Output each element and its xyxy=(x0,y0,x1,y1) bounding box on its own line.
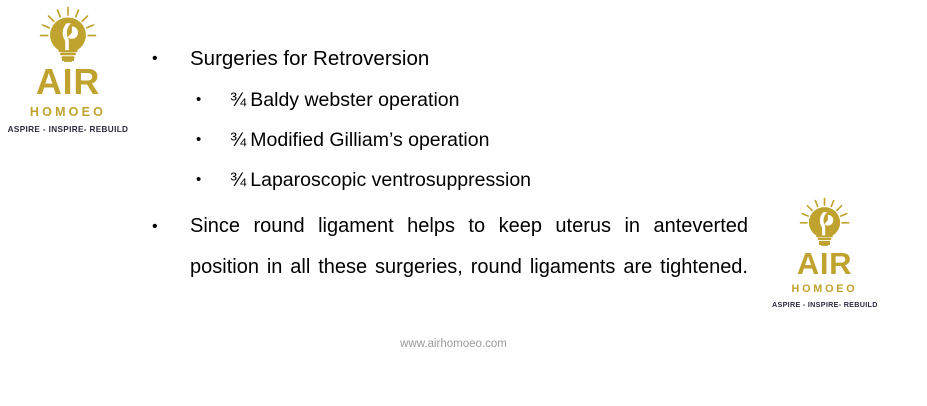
footer-website-url[interactable]: www.airhomoeo.com xyxy=(0,338,907,350)
logo-wordmark: AIR xyxy=(772,248,877,279)
logo-letter-i: I xyxy=(820,248,829,279)
slide-body: • Surgeries for Retroversion • ¾Baldy we… xyxy=(152,40,748,329)
logo-subtitle: HOMOEO xyxy=(772,284,877,295)
fraction-marker: ¾ xyxy=(230,120,246,160)
list-item: • Surgeries for Retroversion xyxy=(152,40,748,78)
logo-letter-i: I xyxy=(63,64,74,100)
logo-letter-a: A xyxy=(36,61,63,102)
fraction-marker: ¾ xyxy=(230,80,246,120)
presentation-slide: AIR HOMOEO ASPIRE - INSPIRE- REBUILD • S… xyxy=(0,0,927,406)
list-item-paragraph: • Since round ligament helps to keep ute… xyxy=(152,206,748,329)
list-item-label: Modified Gilliam’s operation xyxy=(250,129,489,151)
list-item-label: Surgeries for Retroversion xyxy=(190,40,429,78)
bullet-icon: • xyxy=(196,80,230,120)
logo-air-homoeo-primary: AIR HOMOEO ASPIRE - INSPIRE- REBUILD xyxy=(7,6,129,134)
list-item-label: Baldy webster operation xyxy=(250,89,459,111)
logo-wordmark: AIR xyxy=(7,64,129,100)
logo-air-homoeo-secondary: AIR HOMOEO ASPIRE - INSPIRE- REBUILD xyxy=(772,197,877,308)
bullet-icon: • xyxy=(196,160,230,200)
logo-letter-a: A xyxy=(797,246,820,281)
bullet-icon: • xyxy=(152,206,190,247)
lightbulb-icon xyxy=(772,197,877,246)
logo-letter-r: R xyxy=(73,61,100,102)
bullet-icon: • xyxy=(196,120,230,160)
bullet-icon: • xyxy=(152,40,190,78)
list-item: • ¾Modified Gilliam’s operation xyxy=(196,120,748,160)
lightbulb-icon xyxy=(7,6,129,62)
logo-tagline: ASPIRE - INSPIRE- REBUILD xyxy=(772,301,877,308)
fraction-marker: ¾ xyxy=(230,160,246,200)
paragraph-text: Since round ligament helps to keep uteru… xyxy=(190,206,748,329)
logo-tagline: ASPIRE - INSPIRE- REBUILD xyxy=(7,126,129,134)
list-item: • ¾Laparoscopic ventrosuppression xyxy=(196,160,748,200)
list-item: • ¾Baldy webster operation xyxy=(196,80,748,120)
logo-subtitle: HOMOEO xyxy=(7,106,129,119)
list-item-label: Laparoscopic ventrosuppression xyxy=(250,169,531,191)
logo-letter-r: R xyxy=(829,246,852,281)
